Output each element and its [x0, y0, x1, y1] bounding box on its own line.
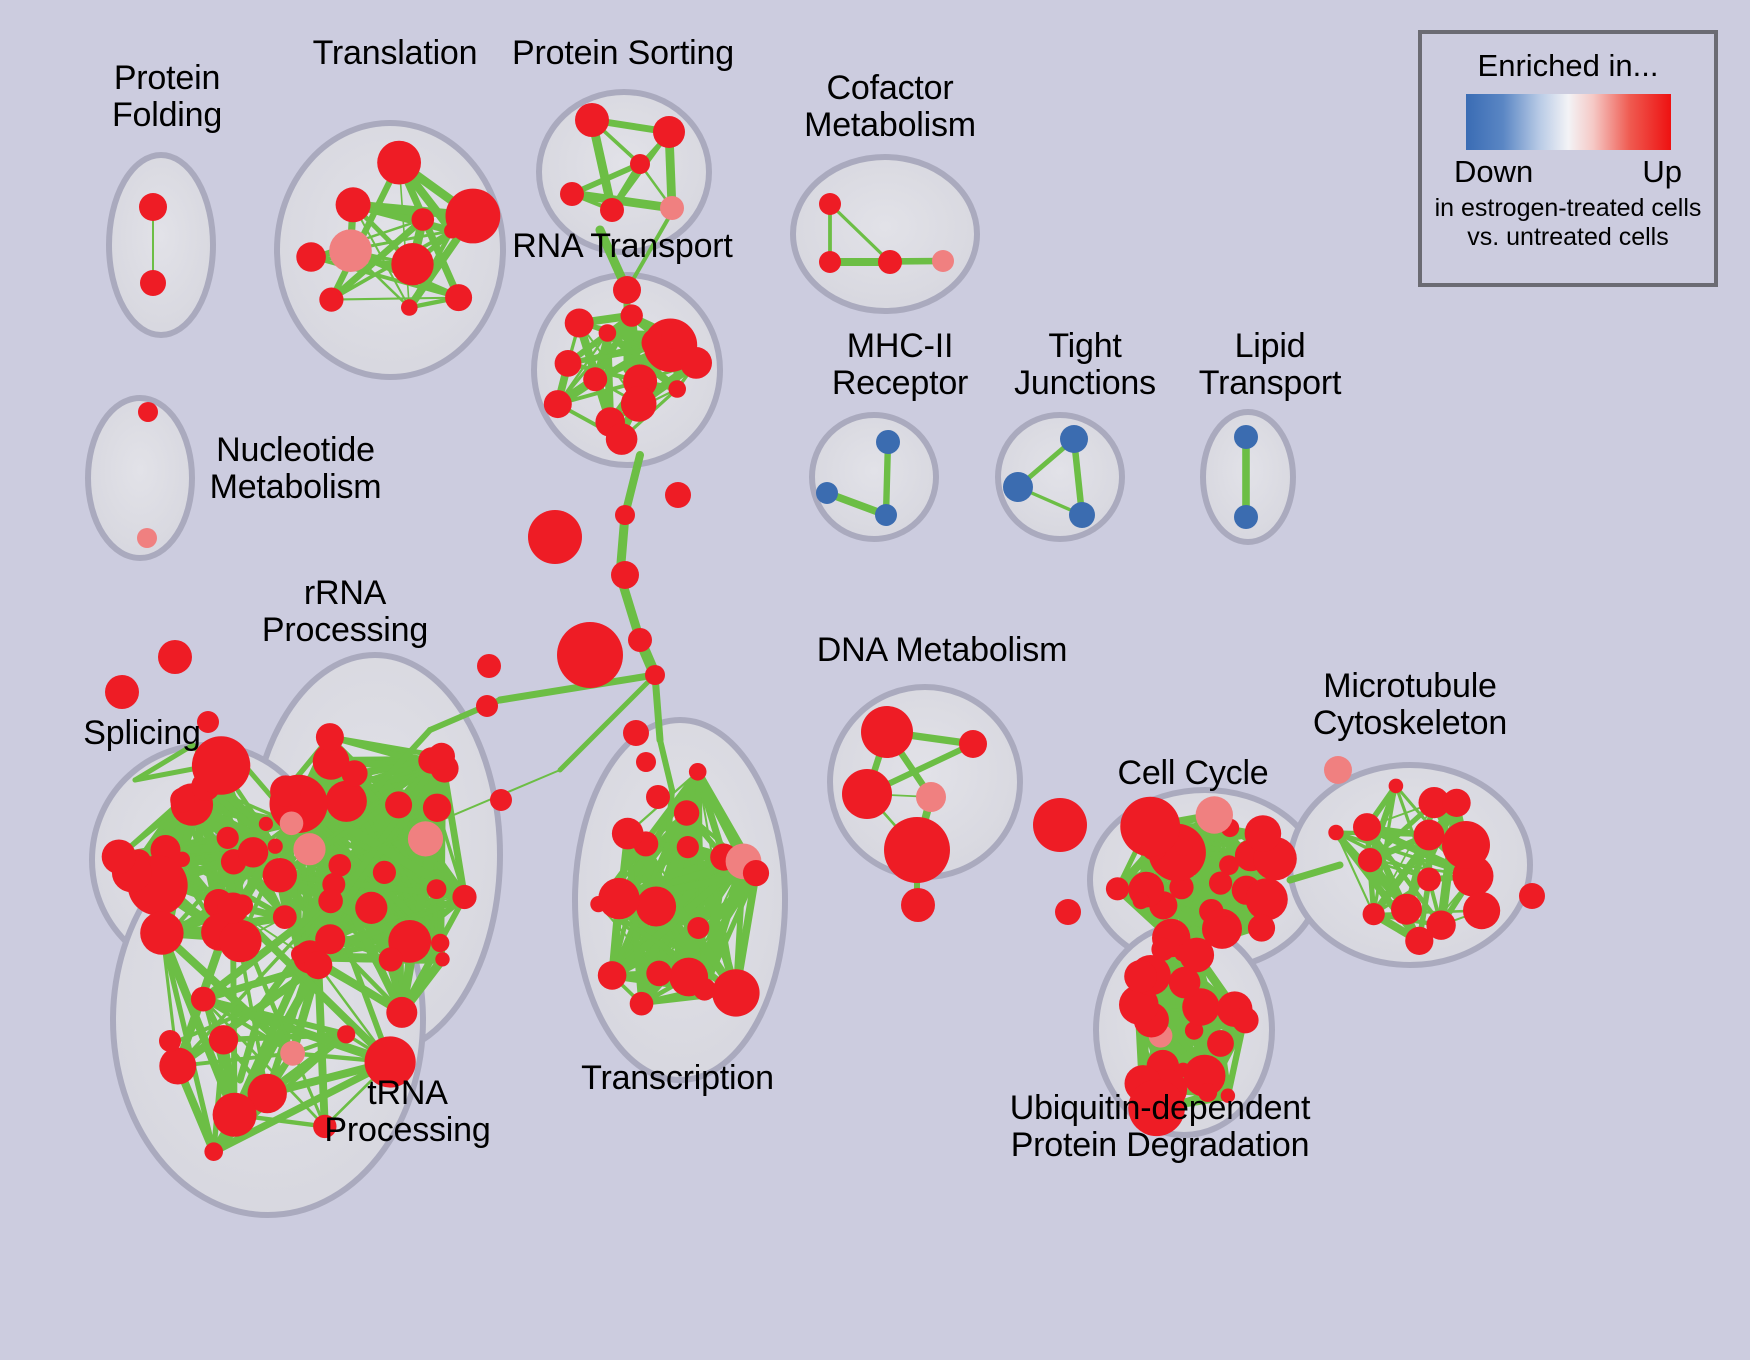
network-node[interactable] — [680, 347, 712, 379]
network-node[interactable] — [861, 706, 913, 758]
network-node[interactable] — [653, 116, 685, 148]
network-node[interactable] — [636, 752, 656, 772]
network-node[interactable] — [296, 242, 326, 272]
network-node[interactable] — [385, 791, 412, 818]
network-node[interactable] — [445, 284, 472, 311]
network-node[interactable] — [428, 743, 455, 770]
network-node[interactable] — [916, 782, 946, 812]
network-node[interactable] — [326, 781, 367, 822]
network-node[interactable] — [1232, 1007, 1258, 1033]
network-node[interactable] — [304, 951, 332, 979]
network-node[interactable] — [1391, 894, 1422, 925]
network-node[interactable] — [401, 299, 418, 316]
network-node[interactable] — [1133, 892, 1150, 909]
network-node[interactable] — [544, 390, 572, 418]
network-node[interactable] — [1463, 892, 1500, 929]
network-node[interactable] — [557, 622, 623, 688]
network-node[interactable] — [1414, 820, 1445, 851]
network-node[interactable] — [645, 665, 665, 685]
network-node[interactable] — [1060, 425, 1088, 453]
network-node[interactable] — [316, 723, 344, 751]
network-node[interactable] — [209, 1025, 238, 1054]
network-node[interactable] — [646, 961, 672, 987]
network-node[interactable] — [273, 905, 297, 929]
network-node[interactable] — [1106, 877, 1129, 900]
network-node[interactable] — [660, 196, 684, 220]
network-node[interactable] — [379, 947, 403, 971]
network-node[interactable] — [192, 736, 250, 794]
legend-title: Enriched in... — [1478, 48, 1659, 84]
network-node[interactable] — [612, 818, 644, 850]
network-node[interactable] — [412, 208, 435, 231]
network-node[interactable] — [613, 276, 641, 304]
network-node[interactable] — [102, 840, 136, 874]
network-node[interactable] — [408, 821, 443, 856]
network-node[interactable] — [336, 187, 371, 222]
network-node[interactable] — [280, 812, 304, 836]
edge — [441, 756, 442, 959]
network-node[interactable] — [452, 885, 476, 909]
network-node[interactable] — [1175, 839, 1192, 856]
network-node[interactable] — [280, 1041, 305, 1066]
network-node[interactable] — [743, 860, 769, 886]
network-node[interactable] — [293, 833, 325, 865]
network-node[interactable] — [1245, 815, 1282, 852]
network-node[interactable] — [876, 430, 900, 454]
network-node[interactable] — [959, 730, 987, 758]
network-node[interactable] — [583, 367, 607, 391]
network-node[interactable] — [528, 510, 582, 564]
network-node[interactable] — [1198, 1083, 1217, 1102]
network-node[interactable] — [1128, 1080, 1185, 1137]
network-node[interactable] — [668, 380, 686, 398]
network-node[interactable] — [159, 1030, 181, 1052]
network-node[interactable] — [197, 711, 219, 733]
network-node[interactable] — [446, 189, 501, 244]
legend-panel: Enriched in... Down Up in estrogen-treat… — [1418, 30, 1718, 287]
network-node[interactable] — [1179, 938, 1214, 973]
network-node[interactable] — [575, 103, 609, 137]
network-node[interactable] — [238, 837, 268, 867]
network-node[interactable] — [170, 788, 195, 813]
network-node[interactable] — [355, 892, 387, 924]
network-node[interactable] — [560, 182, 584, 206]
legend-high-label: Up — [1642, 154, 1682, 190]
network-node[interactable] — [105, 675, 139, 709]
legend-endpoints: Down Up — [1454, 154, 1682, 190]
network-node[interactable] — [1033, 798, 1087, 852]
network-node[interactable] — [1055, 899, 1081, 925]
cluster-ellipse-protein-folding — [109, 155, 213, 335]
network-node[interactable] — [665, 482, 691, 508]
network-node[interactable] — [1207, 1030, 1234, 1057]
network-node[interactable] — [878, 250, 902, 274]
network-node[interactable] — [217, 893, 248, 924]
network-node[interactable] — [386, 997, 417, 1028]
network-node[interactable] — [259, 817, 273, 831]
network-node[interactable] — [819, 193, 841, 215]
network-node[interactable] — [1069, 502, 1095, 528]
network-node[interactable] — [373, 861, 396, 884]
network-node[interactable] — [884, 817, 950, 883]
network-node[interactable] — [636, 887, 676, 927]
network-node[interactable] — [555, 350, 582, 377]
network-node[interactable] — [431, 934, 449, 952]
network-node[interactable] — [661, 322, 688, 349]
network-node[interactable] — [139, 193, 167, 221]
network-node[interactable] — [693, 978, 716, 1001]
network-node[interactable] — [391, 243, 433, 285]
network-node[interactable] — [1003, 472, 1033, 502]
network-node[interactable] — [630, 992, 654, 1016]
network-node[interactable] — [217, 827, 239, 849]
network-node[interactable] — [1120, 797, 1180, 857]
network-node[interactable] — [615, 505, 635, 525]
network-node[interactable] — [598, 961, 627, 990]
network-node[interactable] — [1389, 779, 1404, 794]
network-node[interactable] — [1405, 927, 1433, 955]
legend-subtitle: in estrogen-treated cells vs. untreated … — [1435, 194, 1702, 252]
network-node[interactable] — [423, 794, 451, 822]
network-node[interactable] — [628, 628, 652, 652]
network-node[interactable] — [138, 402, 158, 422]
network-node[interactable] — [263, 858, 297, 892]
network-node[interactable] — [600, 198, 624, 222]
network-node[interactable] — [435, 952, 449, 966]
network-node[interactable] — [1358, 848, 1382, 872]
network-node[interactable] — [1234, 505, 1258, 529]
network-node[interactable] — [490, 789, 512, 811]
network-node[interactable] — [191, 987, 216, 1012]
network-node[interactable] — [712, 969, 759, 1016]
network-node[interactable] — [219, 920, 261, 962]
network-node[interactable] — [1124, 960, 1157, 993]
network-node[interactable] — [140, 270, 166, 296]
network-node[interactable] — [819, 251, 841, 273]
network-node[interactable] — [1353, 813, 1381, 841]
network-node[interactable] — [687, 917, 709, 939]
network-node[interactable] — [1206, 916, 1238, 948]
network-node[interactable] — [158, 640, 192, 674]
network-node[interactable] — [319, 288, 343, 312]
network-node[interactable] — [1151, 938, 1174, 961]
network-node[interactable] — [611, 561, 639, 589]
network-node[interactable] — [674, 800, 699, 825]
network-node[interactable] — [365, 1036, 416, 1087]
network-node[interactable] — [599, 324, 617, 342]
network-node[interactable] — [630, 154, 650, 174]
network-node[interactable] — [1234, 425, 1258, 449]
cluster-ellipse-mhc-ii-receptor — [812, 415, 936, 539]
network-node[interactable] — [213, 1093, 257, 1137]
network-node[interactable] — [598, 878, 639, 919]
network-node[interactable] — [1248, 914, 1275, 941]
network-node[interactable] — [268, 839, 283, 854]
network-canvas: Protein FoldingTranslationProtein Sortin… — [0, 0, 1750, 1360]
network-node[interactable] — [476, 695, 498, 717]
network-node[interactable] — [159, 1048, 196, 1085]
network-node[interactable] — [875, 504, 897, 526]
network-node[interactable] — [901, 888, 935, 922]
network-node[interactable] — [590, 896, 606, 912]
network-node[interactable] — [329, 229, 372, 272]
network-node[interactable] — [1246, 878, 1288, 920]
network-node[interactable] — [318, 889, 343, 914]
network-node[interactable] — [204, 1142, 223, 1161]
network-node[interactable] — [337, 1025, 355, 1043]
network-node[interactable] — [842, 769, 892, 819]
network-node[interactable] — [623, 720, 649, 746]
cluster-ellipse-cofactor-metabolism — [793, 157, 977, 311]
network-node[interactable] — [1417, 868, 1441, 892]
network-node[interactable] — [932, 250, 954, 272]
network-node[interactable] — [621, 304, 643, 326]
network-node[interactable] — [377, 141, 421, 185]
network-node[interactable] — [689, 763, 707, 781]
network-node[interactable] — [137, 528, 157, 548]
network-node[interactable] — [1196, 796, 1233, 833]
network-node[interactable] — [1221, 1089, 1235, 1103]
network-node[interactable] — [1442, 821, 1490, 869]
network-node[interactable] — [1519, 883, 1545, 909]
network-node[interactable] — [313, 1115, 336, 1138]
network-node[interactable] — [621, 386, 657, 422]
legend-low-label: Down — [1454, 154, 1533, 190]
network-node[interactable] — [1324, 756, 1352, 784]
network-node[interactable] — [1328, 825, 1343, 840]
network-node[interactable] — [427, 879, 447, 899]
network-node[interactable] — [1363, 903, 1385, 925]
network-node[interactable] — [606, 423, 638, 455]
network-node[interactable] — [677, 836, 699, 858]
network-node[interactable] — [646, 785, 670, 809]
network-node[interactable] — [816, 482, 838, 504]
network-node[interactable] — [477, 654, 501, 678]
network-node[interactable] — [270, 775, 301, 806]
legend-color-gradient — [1466, 94, 1671, 150]
network-node[interactable] — [565, 309, 594, 338]
network-node[interactable] — [140, 911, 183, 954]
network-node[interactable] — [1443, 789, 1471, 817]
